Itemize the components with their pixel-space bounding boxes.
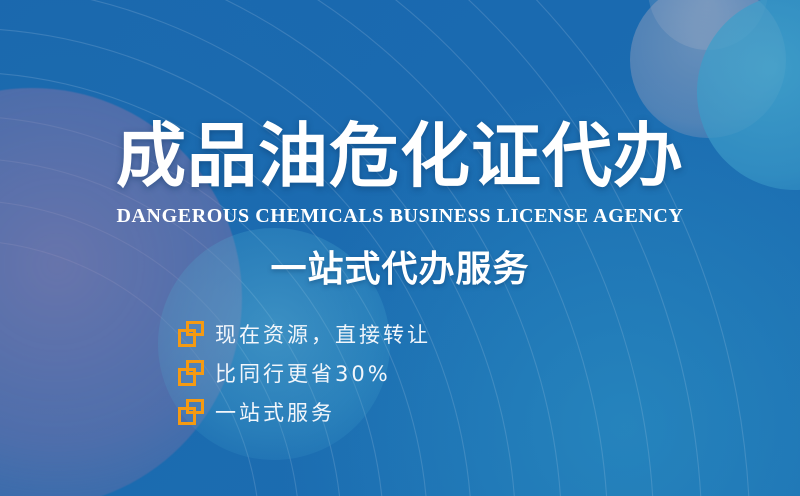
overlapping-squares-icon <box>178 321 204 347</box>
feature-item: 比同行更省30% <box>178 355 431 391</box>
feature-label: 现在资源，直接转让 <box>215 319 431 349</box>
promotional-banner: 成品油危化证代办 DANGEROUS CHEMICALS BUSINESS LI… <box>0 0 800 496</box>
english-subtitle: DANGEROUS CHEMICALS BUSINESS LICENSE AGE… <box>0 205 800 228</box>
feature-item: 一站式服务 <box>178 394 431 430</box>
feature-list: 现在资源，直接转让 比同行更省30% 一站式 <box>178 316 431 433</box>
banner-content: 成品油危化证代办 DANGEROUS CHEMICALS BUSINESS LI… <box>0 0 800 496</box>
overlapping-squares-icon <box>178 399 204 425</box>
feature-item: 现在资源，直接转让 <box>178 316 431 352</box>
secondary-headline: 一站式代办服务 <box>0 248 800 292</box>
overlapping-squares-icon <box>178 360 204 386</box>
feature-label: 一站式服务 <box>215 397 335 427</box>
main-headline: 成品油危化证代办 <box>0 118 800 194</box>
feature-label: 比同行更省30% <box>215 358 391 388</box>
